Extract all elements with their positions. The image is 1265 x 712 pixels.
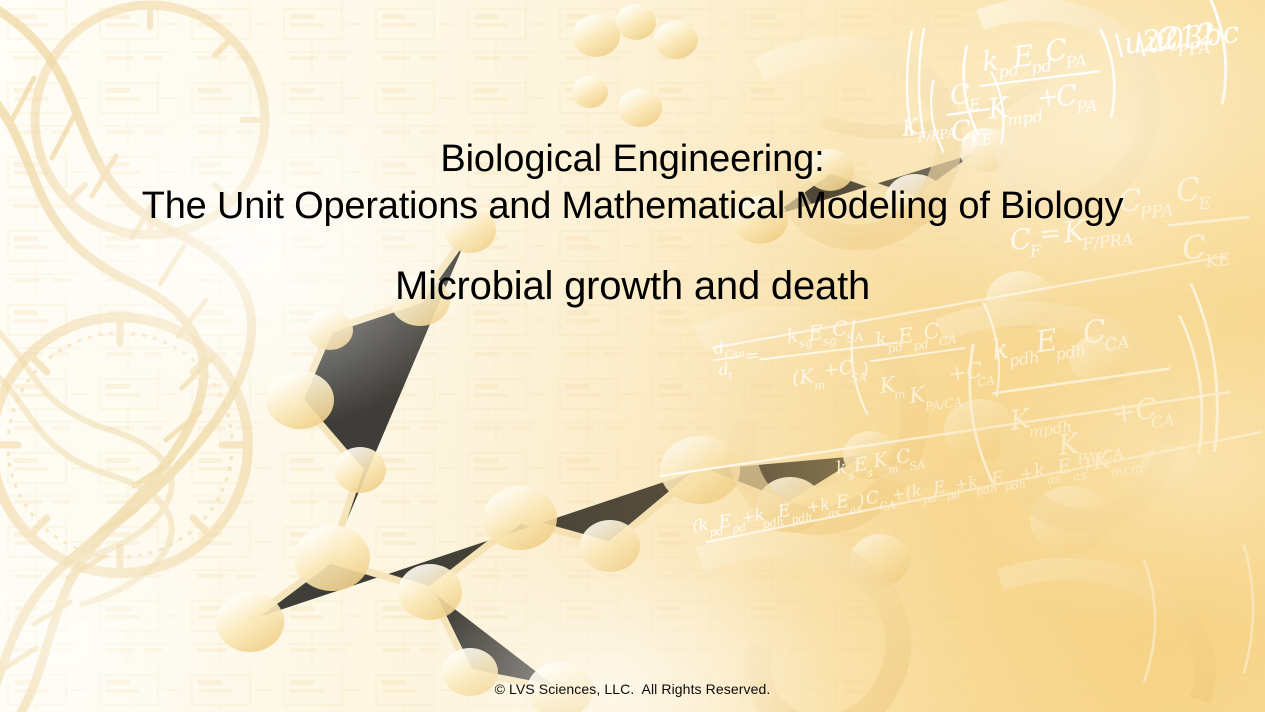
svg-text:CA: CA xyxy=(938,332,958,348)
svg-text:PPA: PPA xyxy=(1175,37,1212,61)
svg-text:C: C xyxy=(1054,78,1079,113)
presentation-slide: k pd E pd C PA K mpd + C PA \u2212 \u03b… xyxy=(0,0,1265,712)
svg-text:PA: PA xyxy=(1064,51,1088,73)
background-artwork: k pd E pd C PA K mpd + C PA \u2212 \u03b… xyxy=(0,0,1265,712)
title-line-2: The Unit Operations and Mathematical Mod… xyxy=(0,183,1265,230)
svg-text:CA: CA xyxy=(976,373,996,389)
svg-text:(k: (k xyxy=(691,515,710,536)
svg-text:CA: CA xyxy=(1150,410,1176,432)
svg-text:SA: SA xyxy=(846,330,865,346)
svg-text:=: = xyxy=(744,345,762,368)
title-line-1: Biological Engineering: xyxy=(0,136,1265,183)
svg-text:SA: SA xyxy=(909,458,926,473)
svg-text:m: m xyxy=(893,387,906,402)
svg-text:E: E xyxy=(895,323,915,349)
slide-title: Biological Engineering: The Unit Operati… xyxy=(0,136,1265,230)
svg-text:CA: CA xyxy=(1103,333,1131,356)
slide-subtitle: Microbial growth and death xyxy=(0,261,1265,311)
svg-text:PA: PA xyxy=(1074,96,1098,118)
copyright-footer: © LVS Sciences, LLC. All Rights Reserved… xyxy=(0,680,1265,698)
